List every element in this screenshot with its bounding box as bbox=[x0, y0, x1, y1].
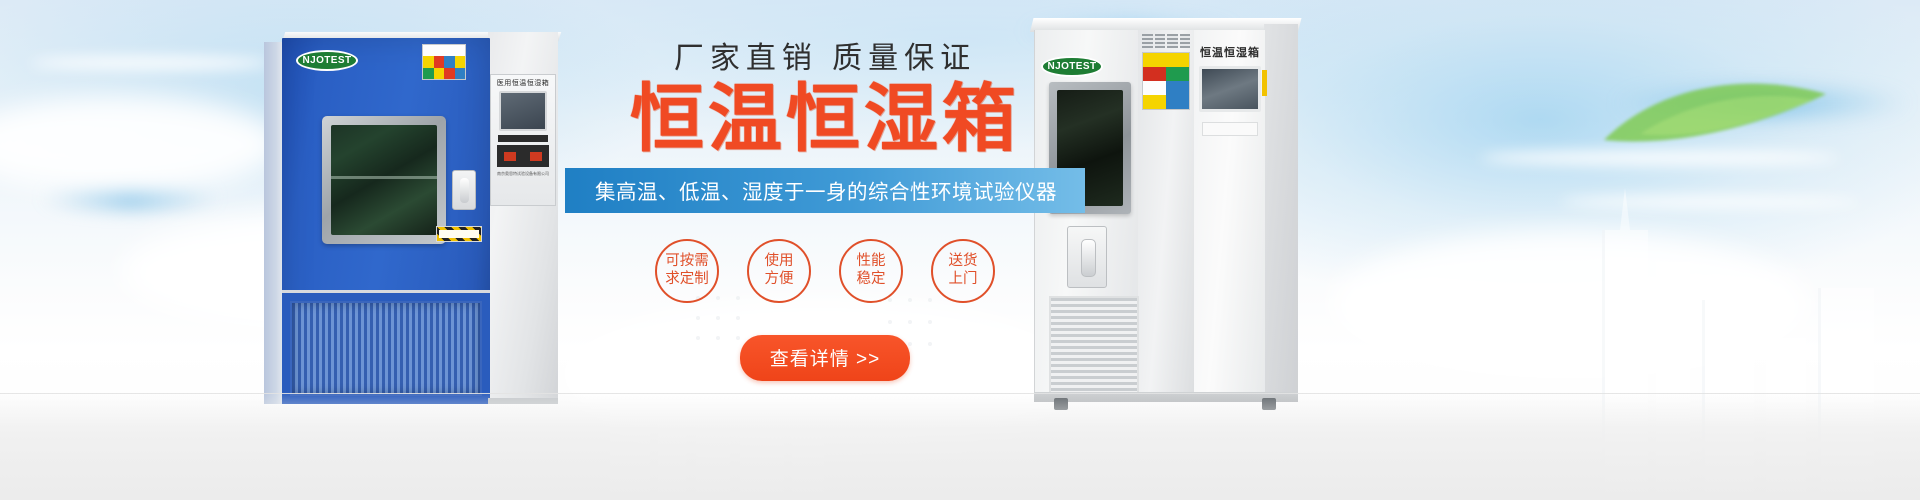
banner-headline: 恒温恒湿箱 bbox=[565, 81, 1085, 158]
chamber-left-window-glass bbox=[331, 125, 437, 235]
caster-wheel-left bbox=[1054, 398, 1068, 410]
indicator-led-power bbox=[530, 152, 542, 161]
chamber-left-viewing-window bbox=[322, 116, 446, 244]
feature-badge-custom-line2: 求定制 bbox=[665, 271, 709, 289]
feature-badge-custom[interactable]: 可按需 求定制 bbox=[655, 239, 719, 303]
feature-badge-delivery-line2: 上门 bbox=[949, 271, 978, 289]
feature-badge-delivery[interactable]: 送货 上门 bbox=[931, 239, 995, 303]
chamber-right-nameplate bbox=[1202, 122, 1258, 136]
chamber-right-vent-slots bbox=[1142, 34, 1190, 48]
feature-badge-custom-line1: 可按需 bbox=[665, 253, 709, 271]
feature-badge-stable-line1: 性能 bbox=[857, 253, 886, 271]
green-leaf-swoosh bbox=[1600, 78, 1830, 158]
chamber-left-condenser-grille bbox=[282, 290, 490, 404]
control-panel-left: 医用恒温恒湿箱 南京奥思特试验设备有限公司 bbox=[490, 74, 556, 206]
caution-label-left bbox=[436, 226, 482, 242]
chamber-left-grille-slats bbox=[290, 301, 482, 396]
indicator-led-temp bbox=[504, 152, 516, 161]
control-panel-left-title: 医用恒温恒湿箱 bbox=[491, 75, 555, 88]
caster-wheel-right bbox=[1262, 398, 1276, 410]
control-panel-left-footnote: 南京奥思特试验设备有限公司 bbox=[491, 171, 555, 177]
view-details-button[interactable]: 查看详情 >> bbox=[740, 335, 910, 381]
warning-sticker-right bbox=[1142, 52, 1190, 110]
chamber-left-door-handle bbox=[452, 170, 476, 210]
banner-copy-block: 厂家直销 质量保证 恒温恒湿箱 集高温、低温、湿度于一身的综合性环境试验仪器 可… bbox=[565, 42, 1085, 381]
product-banner: NJOTEST 医用恒温恒湿箱 南京奥思特试验设备有限公司 bbox=[0, 0, 1920, 500]
control-panel-left-display[interactable] bbox=[499, 91, 547, 131]
chamber-right-far-panel bbox=[1264, 24, 1298, 394]
control-panel-left-indicators bbox=[497, 145, 549, 167]
chamber-right-panel-title: 恒温恒湿箱 bbox=[1198, 44, 1262, 60]
chamber-right-display[interactable] bbox=[1199, 66, 1261, 112]
banner-subtitle: 集高温、低温、湿度于一身的综合性环境试验仪器 bbox=[565, 168, 1085, 213]
control-panel-left-strip bbox=[498, 135, 548, 142]
brand-logo-left: NJOTEST bbox=[296, 50, 358, 71]
banner-tagline: 厂家直销 质量保证 bbox=[565, 42, 1085, 75]
feature-badge-easy-use-line1: 使用 bbox=[765, 253, 794, 271]
chamber-left-edge bbox=[264, 42, 284, 404]
feature-badge-delivery-line1: 送货 bbox=[949, 253, 978, 271]
cloud-wisp-3 bbox=[30, 56, 270, 70]
feature-badge-stable-line2: 稳定 bbox=[857, 271, 886, 289]
floor-divider bbox=[0, 393, 1920, 394]
city-skyline-right bbox=[1590, 170, 1920, 500]
feature-badge-easy-use-line2: 方便 bbox=[765, 271, 794, 289]
chamber-left-base bbox=[488, 398, 558, 404]
feature-badge-easy-use[interactable]: 使用 方便 bbox=[747, 239, 811, 303]
product-image-chamber-left: NJOTEST 医用恒温恒湿箱 南京奥思特试验设备有限公司 bbox=[238, 32, 558, 404]
feature-badge-list: 可按需 求定制 使用 方便 性能 稳定 送货 上门 bbox=[565, 239, 1085, 303]
cta-container: 查看详情 >> bbox=[565, 335, 1085, 381]
warning-sticker-left bbox=[422, 44, 466, 80]
feature-badge-stable[interactable]: 性能 稳定 bbox=[839, 239, 903, 303]
chamber-right-yellow-marker bbox=[1262, 70, 1267, 96]
